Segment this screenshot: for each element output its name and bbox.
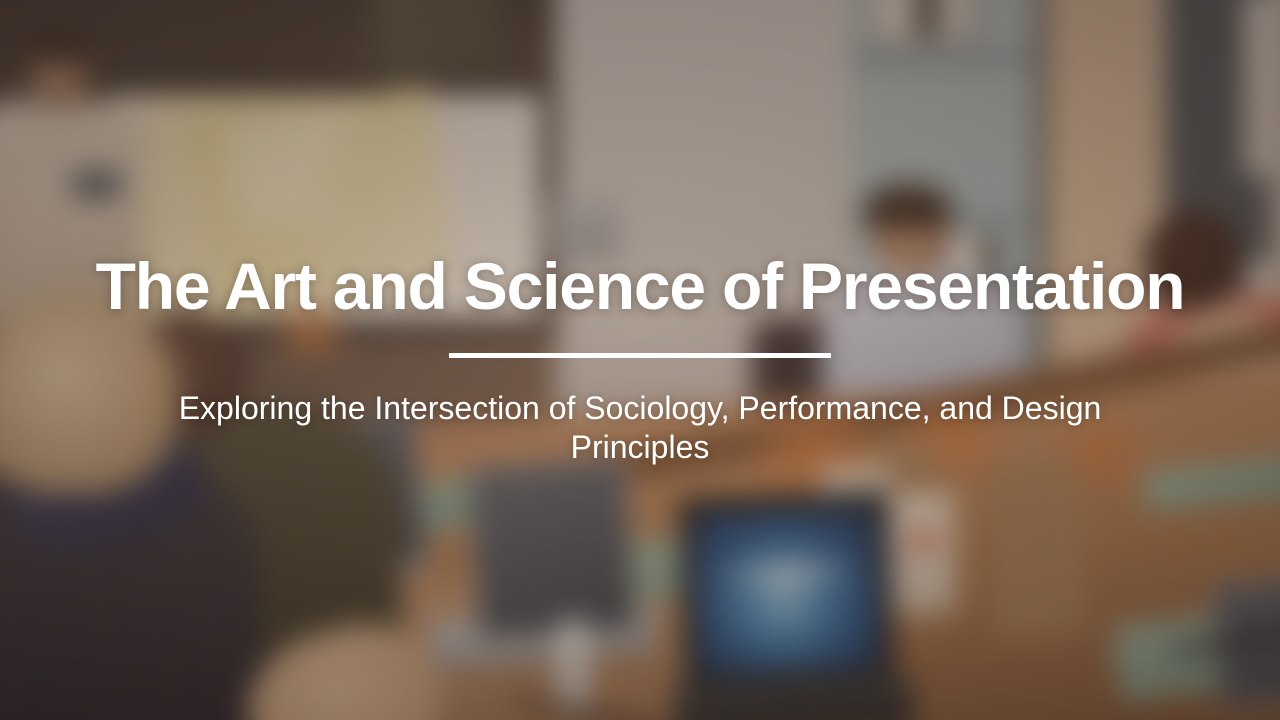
slide-subtitle: Exploring the Intersection of Sociology,… xyxy=(140,389,1140,467)
slide-content: The Art and Science of Presentation Expl… xyxy=(0,0,1280,720)
title-divider-rule xyxy=(449,353,831,358)
presentation-title-slide: The Art and Science of Presentation Expl… xyxy=(0,0,1280,720)
slide-title: The Art and Science of Presentation xyxy=(96,253,1185,320)
